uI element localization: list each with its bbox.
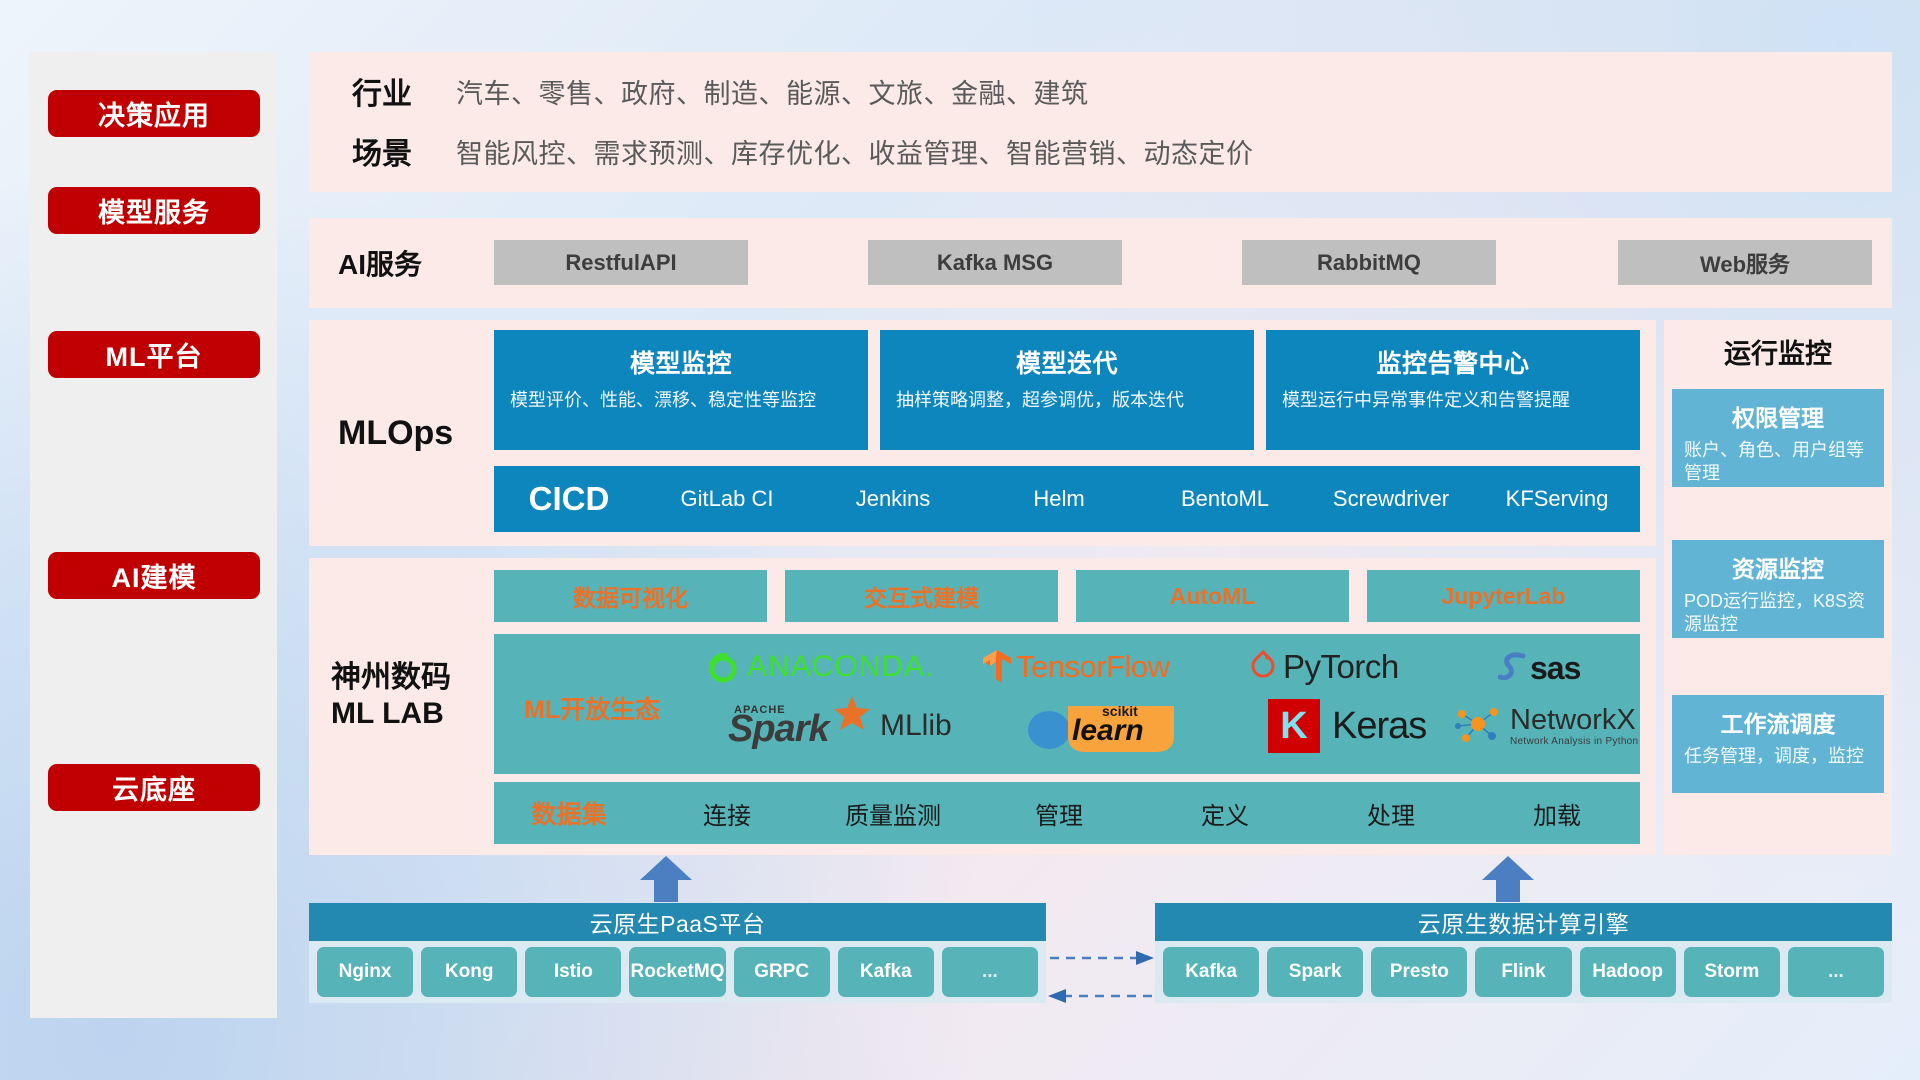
- dataset-item-define[interactable]: 定义: [1142, 796, 1308, 831]
- cicd-item-jenkins[interactable]: Jenkins: [810, 486, 976, 512]
- pytorch-logo: PyTorch: [1250, 648, 1399, 686]
- sidebar-item-model-service[interactable]: 模型服务: [48, 187, 260, 234]
- scikit-learn-logo: scikit learn: [1026, 702, 1180, 754]
- card-title: 资源监控: [1684, 550, 1872, 584]
- dataset-item-load[interactable]: 加载: [1474, 796, 1640, 831]
- compute-chip-hadoop[interactable]: Hadoop: [1580, 947, 1676, 997]
- sidebar-item-label: 决策应用: [98, 94, 210, 133]
- paas-chip-more[interactable]: ...: [942, 947, 1038, 997]
- spark-mllib-logo: APACHE Spark MLlib: [728, 700, 952, 752]
- tensorflow-icon: [982, 649, 1012, 685]
- keras-wordmark: Keras: [1332, 705, 1426, 748]
- scikit-orange-blob: scikit learn: [1062, 702, 1180, 754]
- cicd-item-helm[interactable]: Helm: [976, 486, 1142, 512]
- card-title: 模型迭代: [896, 344, 1238, 380]
- sidebar-item-ml-platform[interactable]: ML平台: [48, 331, 260, 378]
- compute-chip-presto[interactable]: Presto: [1371, 947, 1467, 997]
- cicd-item-screwdriver[interactable]: Screwdriver: [1308, 486, 1474, 512]
- dataset-item-connect[interactable]: 连接: [644, 796, 810, 831]
- compute-up-arrow-icon: [1480, 856, 1536, 902]
- keras-logo: K Keras: [1268, 698, 1426, 754]
- dataset-item-process[interactable]: 处理: [1308, 796, 1474, 831]
- ml-lab-tab-automl[interactable]: AutoML: [1076, 570, 1349, 622]
- tensorflow-wordmark: TensorFlow: [1016, 649, 1170, 685]
- compute-chip-spark[interactable]: Spark: [1267, 947, 1363, 997]
- networkx-wordmark: NetworkX: [1510, 706, 1638, 735]
- mlops-label: MLOps: [338, 320, 453, 546]
- pytorch-icon: [1250, 650, 1276, 684]
- sidebar-item-label: AI建模: [112, 556, 197, 595]
- monitor-card-permission[interactable]: 权限管理 账户、角色、用户组等管理: [1672, 389, 1884, 487]
- tab-label: JupyterLab: [1442, 583, 1566, 610]
- card-desc: 账户、角色、用户组等管理: [1684, 439, 1872, 486]
- card-desc: POD运行监控，K8S资源监控: [1684, 590, 1872, 637]
- anaconda-icon: [706, 650, 740, 684]
- ml-lab-label: 神州数码 ML LAB: [331, 660, 501, 732]
- cicd-bar: CICD GitLab CI Jenkins Helm BentoML Scre…: [494, 466, 1640, 532]
- keras-k-icon: K: [1268, 699, 1320, 753]
- paas-up-arrow-icon: [638, 856, 694, 902]
- mlops-card-model-monitoring[interactable]: 模型监控 模型评价、性能、漂移、稳定性等监控: [494, 330, 868, 450]
- sas-logo: sas: [1498, 650, 1580, 686]
- scenario-value: 智能风控、需求预测、库存优化、收益管理、智能营销、动态定价: [456, 132, 1254, 171]
- service-chip-label: RabbitMQ: [1317, 250, 1421, 276]
- industry-value: 汽车、零售、政府、制造、能源、文旅、金融、建筑: [456, 72, 1089, 111]
- card-title: 监控告警中心: [1282, 344, 1624, 380]
- paas-chip-grpc[interactable]: GRPC: [734, 947, 830, 997]
- learn-word: learn: [1072, 714, 1144, 748]
- spark-star-icon: [832, 694, 872, 734]
- service-chip-restfulapi[interactable]: RestfulAPI: [494, 240, 748, 285]
- card-desc: 任务管理，调度，监控: [1684, 745, 1872, 768]
- service-chip-kafka-msg[interactable]: Kafka MSG: [868, 240, 1122, 285]
- ml-lab-tab-data-visualization[interactable]: 数据可视化: [494, 570, 767, 622]
- card-desc: 模型运行中异常事件定义和告警提醒: [1282, 389, 1624, 413]
- cicd-item-kfserving[interactable]: KFServing: [1474, 486, 1640, 512]
- compute-chip-flink[interactable]: Flink: [1475, 947, 1571, 997]
- service-chip-label: Web服务: [1700, 247, 1790, 279]
- networkx-logo: NetworkX Network Analysis in Python: [1452, 702, 1638, 750]
- card-desc: 抽样策略调整，超参调优，版本迭代: [896, 389, 1238, 413]
- anaconda-wordmark: ANACONDA.: [747, 650, 934, 684]
- cicd-label: CICD: [494, 480, 644, 518]
- compute-header: 云原生数据计算引擎: [1155, 903, 1892, 941]
- card-title: 工作流调度: [1684, 705, 1872, 739]
- paas-chip-rocketmq[interactable]: RocketMQ: [629, 947, 725, 997]
- compute-chip-kafka[interactable]: Kafka: [1163, 947, 1259, 997]
- tensorflow-logo: TensorFlow: [982, 648, 1170, 686]
- sas-icon: [1498, 650, 1530, 686]
- mlops-card-model-iteration[interactable]: 模型迭代 抽样策略调整，超参调优，版本迭代: [880, 330, 1254, 450]
- ml-lab-label-line2: ML LAB: [331, 696, 501, 732]
- paas-chip-kong[interactable]: Kong: [421, 947, 517, 997]
- dataset-item-manage[interactable]: 管理: [976, 796, 1142, 831]
- sidebar-item-label: ML平台: [106, 335, 203, 374]
- sidebar-item-label: 云底座: [112, 768, 196, 807]
- paas-compute-connector: [1046, 940, 1156, 1010]
- compute-chip-row: Kafka Spark Presto Flink Hadoop Storm ..…: [1155, 941, 1892, 1003]
- keras-k-letter: K: [1280, 705, 1307, 748]
- service-chip-web-service[interactable]: Web服务: [1618, 240, 1872, 285]
- spark-mark: APACHE Spark: [728, 700, 870, 752]
- ml-open-ecosystem-label: ML开放生态: [524, 690, 660, 726]
- sas-wordmark: sas: [1530, 650, 1580, 687]
- service-chip-label: Kafka MSG: [937, 250, 1053, 276]
- service-chip-rabbitmq[interactable]: RabbitMQ: [1242, 240, 1496, 285]
- compute-chip-more[interactable]: ...: [1788, 947, 1884, 997]
- monitor-card-resource[interactable]: 资源监控 POD运行监控，K8S资源监控: [1672, 540, 1884, 638]
- paas-chip-row: Nginx Kong Istio RocketMQ GRPC Kafka ...: [309, 941, 1046, 1003]
- runtime-monitor-title: 运行监控: [1664, 332, 1892, 371]
- networkx-tagline: Network Analysis in Python: [1510, 737, 1638, 747]
- card-desc: 模型评价、性能、漂移、稳定性等监控: [510, 389, 852, 413]
- dataset-bar: 数据集 连接 质量监测 管理 定义 处理 加载: [494, 782, 1640, 844]
- sidebar-item-decision-application[interactable]: 决策应用: [48, 90, 260, 137]
- networkx-graph-icon: [1452, 702, 1504, 750]
- spark-wordmark: Spark: [728, 708, 829, 751]
- architecture-diagram: 决策应用 模型服务 ML平台 AI建模 云底座 行业 汽车、零售、政府、制造、能…: [0, 0, 1920, 1080]
- paas-header: 云原生PaaS平台: [309, 903, 1046, 941]
- ml-lab-tab-interactive-modeling[interactable]: 交互式建模: [785, 570, 1058, 622]
- dataset-item-quality[interactable]: 质量监测: [810, 796, 976, 831]
- cloud-native-compute-engine-box: 云原生数据计算引擎 Kafka Spark Presto Flink Hadoo…: [1155, 903, 1892, 1003]
- tab-label: 交互式建模: [864, 579, 979, 613]
- networkx-text-block: NetworkX Network Analysis in Python: [1510, 706, 1638, 747]
- sidebar-item-ai-modeling[interactable]: AI建模: [48, 552, 260, 599]
- tab-label: AutoML: [1170, 583, 1256, 610]
- paas-chip-kafka[interactable]: Kafka: [838, 947, 934, 997]
- scenario-key: 场景: [352, 129, 456, 173]
- industry-row: 行业 汽车、零售、政府、制造、能源、文旅、金融、建筑: [352, 62, 1089, 120]
- ai-service-label: AI服务: [338, 218, 422, 308]
- card-title: 权限管理: [1684, 399, 1872, 433]
- ml-lab-tab-jupyterlab[interactable]: JupyterLab: [1367, 570, 1640, 622]
- paas-chip-istio[interactable]: Istio: [525, 947, 621, 997]
- mllib-wordmark: MLlib: [880, 709, 952, 743]
- industry-key: 行业: [352, 69, 456, 113]
- cloud-native-paas-box: 云原生PaaS平台 Nginx Kong Istio RocketMQ GRPC…: [309, 903, 1046, 1003]
- tab-label: 数据可视化: [573, 579, 688, 613]
- compute-chip-storm[interactable]: Storm: [1684, 947, 1780, 997]
- anaconda-logo: ANACONDA.: [706, 649, 934, 685]
- ml-lab-label-line1: 神州数码: [331, 660, 501, 696]
- card-title: 模型监控: [510, 344, 852, 380]
- sidebar-item-cloud-base[interactable]: 云底座: [48, 764, 260, 811]
- cicd-item-gitlab-ci[interactable]: GitLab CI: [644, 486, 810, 512]
- mlops-card-alert-center[interactable]: 监控告警中心 模型运行中异常事件定义和告警提醒: [1266, 330, 1640, 450]
- dataset-label: 数据集: [494, 795, 644, 831]
- sidebar-item-label: 模型服务: [98, 191, 210, 230]
- cicd-item-bentoml[interactable]: BentoML: [1142, 486, 1308, 512]
- service-chip-label: RestfulAPI: [565, 250, 676, 276]
- paas-chip-nginx[interactable]: Nginx: [317, 947, 413, 997]
- scenario-row: 场景 智能风控、需求预测、库存优化、收益管理、智能营销、动态定价: [352, 122, 1254, 180]
- pytorch-wordmark: PyTorch: [1283, 648, 1399, 686]
- monitor-card-workflow[interactable]: 工作流调度 任务管理，调度，监控: [1672, 695, 1884, 793]
